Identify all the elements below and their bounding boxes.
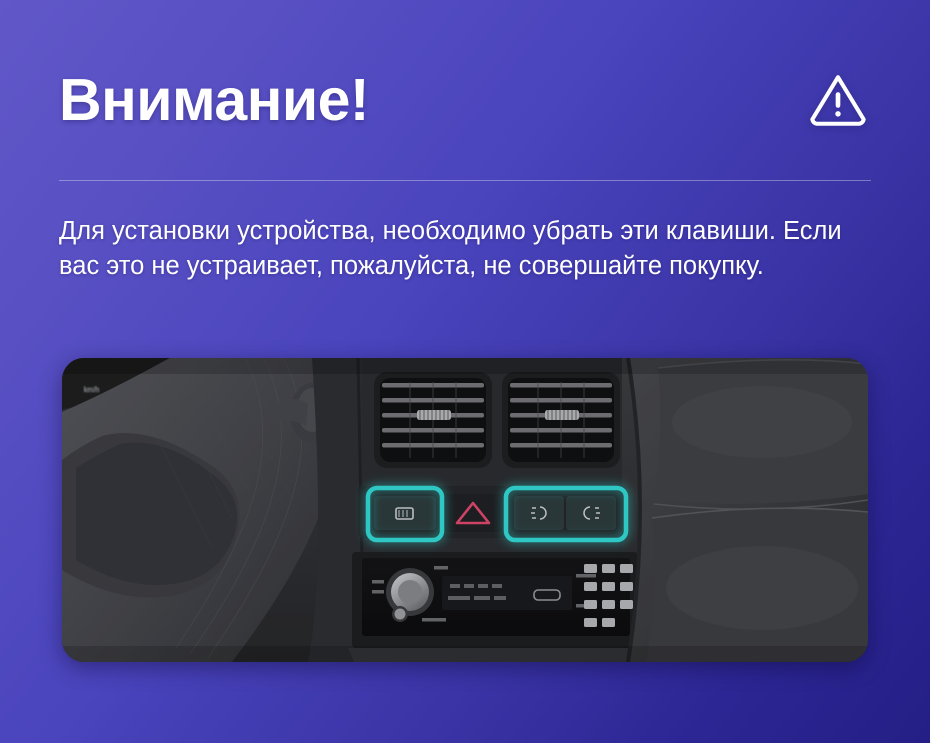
warning-banner: Внимание! Для установки устройства, необ… bbox=[0, 0, 930, 743]
header-divider bbox=[59, 180, 871, 181]
banner-header: Внимание! bbox=[59, 48, 871, 152]
dashboard-photo-illustration: 140 160 180 200 km/h E C bbox=[62, 358, 868, 662]
warning-triangle-icon bbox=[807, 69, 869, 131]
page-title: Внимание! bbox=[59, 71, 369, 130]
dashboard-photo: 140 160 180 200 km/h E C bbox=[62, 358, 868, 662]
body-paragraph: Для установки устройства, необходимо убр… bbox=[59, 214, 859, 284]
